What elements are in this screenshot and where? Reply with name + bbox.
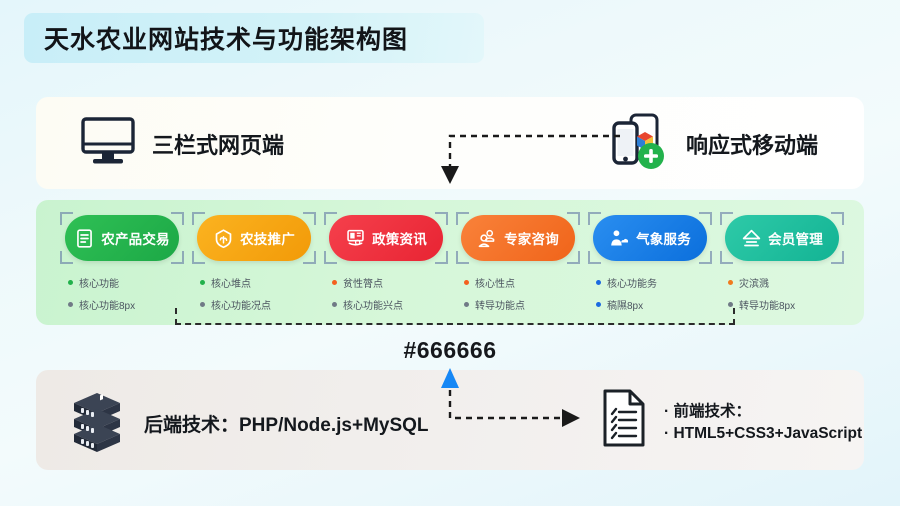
module-pill-wrap[interactable]: 会员管理	[720, 212, 844, 264]
mobile-phones-plus-icon	[608, 110, 670, 177]
hex-color-label: #666666	[0, 337, 900, 364]
client-mobile-entry[interactable]: 响应式移动端	[608, 110, 818, 177]
module-bullet: 核心功能8px	[68, 297, 184, 312]
module-bullet-text: 核心功能8px	[79, 297, 135, 312]
module-title: 农技推广	[240, 228, 295, 248]
module-pill[interactable]: 气象服务	[593, 215, 707, 261]
frontend-tech-entry[interactable]: · 前端技术： · HTML5+CSS3+JavaScript	[600, 388, 862, 453]
desktop-monitor-icon	[80, 116, 136, 171]
module-title: 专家咨询	[504, 228, 559, 248]
bullet-dot-icon	[200, 302, 205, 307]
module-card-list: 农产品交易 核心功能 核心功能8px	[60, 212, 840, 319]
module-bullets: 贫性膂点 核心功能兴点	[324, 275, 448, 312]
bullet-dot-icon	[332, 302, 337, 307]
module-bullet: 核心功能务	[596, 275, 712, 290]
module-pill-wrap[interactable]: 农技推广	[192, 212, 316, 264]
people-group-icon	[477, 228, 498, 249]
module-card-zhengcezixun[interactable]: 政策资讯 贫性膂点 核心功能兴点	[324, 212, 448, 319]
person-cloud-icon	[609, 228, 630, 249]
news-screen-icon	[345, 228, 366, 249]
module-pill[interactable]: 农产品交易	[65, 215, 179, 261]
module-bullet-text: 贫性膂点	[343, 275, 383, 290]
module-bullet-text: 转导功能8px	[739, 297, 795, 312]
module-bullet: 贫性膂点	[332, 275, 448, 290]
module-bullet-text: 核心性点	[475, 275, 515, 290]
module-bullet-text: 核心功能	[79, 275, 119, 290]
module-bullet: 核心堆点	[200, 275, 316, 290]
bullet-dot-icon	[728, 302, 733, 307]
module-group-bracket	[175, 308, 735, 325]
client-mobile-label: 响应式移动端	[686, 128, 818, 160]
module-pill-wrap[interactable]: 农产品交易	[60, 212, 184, 264]
bullet-dot-icon	[68, 280, 73, 285]
bullet-dot-icon	[332, 280, 337, 285]
module-card-huiyuanguanli[interactable]: 会员管理 灾滨溅 转导功能8px	[720, 212, 844, 319]
module-pill[interactable]: 政策资讯	[329, 215, 443, 261]
module-title: 会员管理	[768, 228, 823, 248]
bullet-dot-icon	[596, 280, 601, 285]
module-pill-wrap[interactable]: 专家咨询	[456, 212, 580, 264]
module-title: 政策资讯	[372, 228, 427, 248]
architecture-diagram: 天水农业网站技术与功能架构图 三栏式网页端	[0, 0, 900, 506]
bullet-dot-icon	[596, 302, 601, 307]
backend-tech-entry[interactable]: 后端技术：PHP/Node.js+MySQL	[68, 390, 429, 457]
module-card-nongchanpinjiaoyi[interactable]: 农产品交易 核心功能 核心功能8px	[60, 212, 184, 319]
frontend-tech-line: · HTML5+CSS3+JavaScript	[664, 425, 862, 443]
page-title-chip: 天水农业网站技术与功能架构图	[24, 13, 484, 63]
client-web-label: 三栏式网页端	[152, 128, 284, 160]
module-bullet-text: 核心功能务	[607, 275, 657, 290]
bullet-dot-icon	[68, 302, 73, 307]
module-title: 农产品交易	[101, 228, 170, 248]
module-bullets: 核心功能 核心功能8px	[60, 275, 184, 312]
module-title: 气象服务	[636, 228, 691, 248]
module-bullet-text: 核心堆点	[211, 275, 251, 290]
module-card-qixiangfuwu[interactable]: 气象服务 核心功能务 稿隰8px	[588, 212, 712, 319]
module-pill-wrap[interactable]: 气象服务	[588, 212, 712, 264]
bullet-dot-icon	[728, 280, 733, 285]
backend-tech-label: 后端技术：PHP/Node.js+MySQL	[144, 410, 429, 437]
server-stack-icon	[68, 390, 126, 457]
module-bullets: 灾滨溅 转导功能8px	[720, 275, 844, 312]
module-pill[interactable]: 会员管理	[725, 215, 839, 261]
module-bullets: 核心性点 转导功能点	[456, 275, 580, 312]
page-title: 天水农业网站技术与功能架构图	[44, 20, 408, 56]
frontend-tech-line: · 前端技术：	[664, 399, 862, 421]
bullet-dot-icon	[464, 302, 469, 307]
module-pill[interactable]: 农技推广	[197, 215, 311, 261]
frontend-tech-lines: · 前端技术： · HTML5+CSS3+JavaScript	[664, 399, 862, 443]
module-bullet: 灾滨溅	[728, 275, 844, 290]
module-bullet: 转导功能8px	[728, 297, 844, 312]
module-card-nongjituiguang[interactable]: 农技推广 核心堆点 核心功能况点	[192, 212, 316, 319]
module-bullet: 核心性点	[464, 275, 580, 290]
module-bullets: 核心功能务 稿隰8px	[588, 275, 712, 312]
module-bullets: 核心堆点 核心功能况点	[192, 275, 316, 312]
module-pill-wrap[interactable]: 政策资讯	[324, 212, 448, 264]
member-hui-icon	[741, 228, 762, 249]
module-card-zhuanjiazixun[interactable]: 专家咨询 核心性点 转导功能点	[456, 212, 580, 319]
document-list-icon	[74, 228, 95, 249]
bullet-dot-icon	[200, 280, 205, 285]
document-file-icon	[600, 388, 648, 453]
shield-plant-icon	[213, 228, 234, 249]
bullet-dot-icon	[464, 280, 469, 285]
module-pill[interactable]: 专家咨询	[461, 215, 575, 261]
module-bullet-text: 灾滨溅	[739, 275, 769, 290]
client-web-entry[interactable]: 三栏式网页端	[80, 116, 284, 171]
module-bullet: 核心功能	[68, 275, 184, 290]
